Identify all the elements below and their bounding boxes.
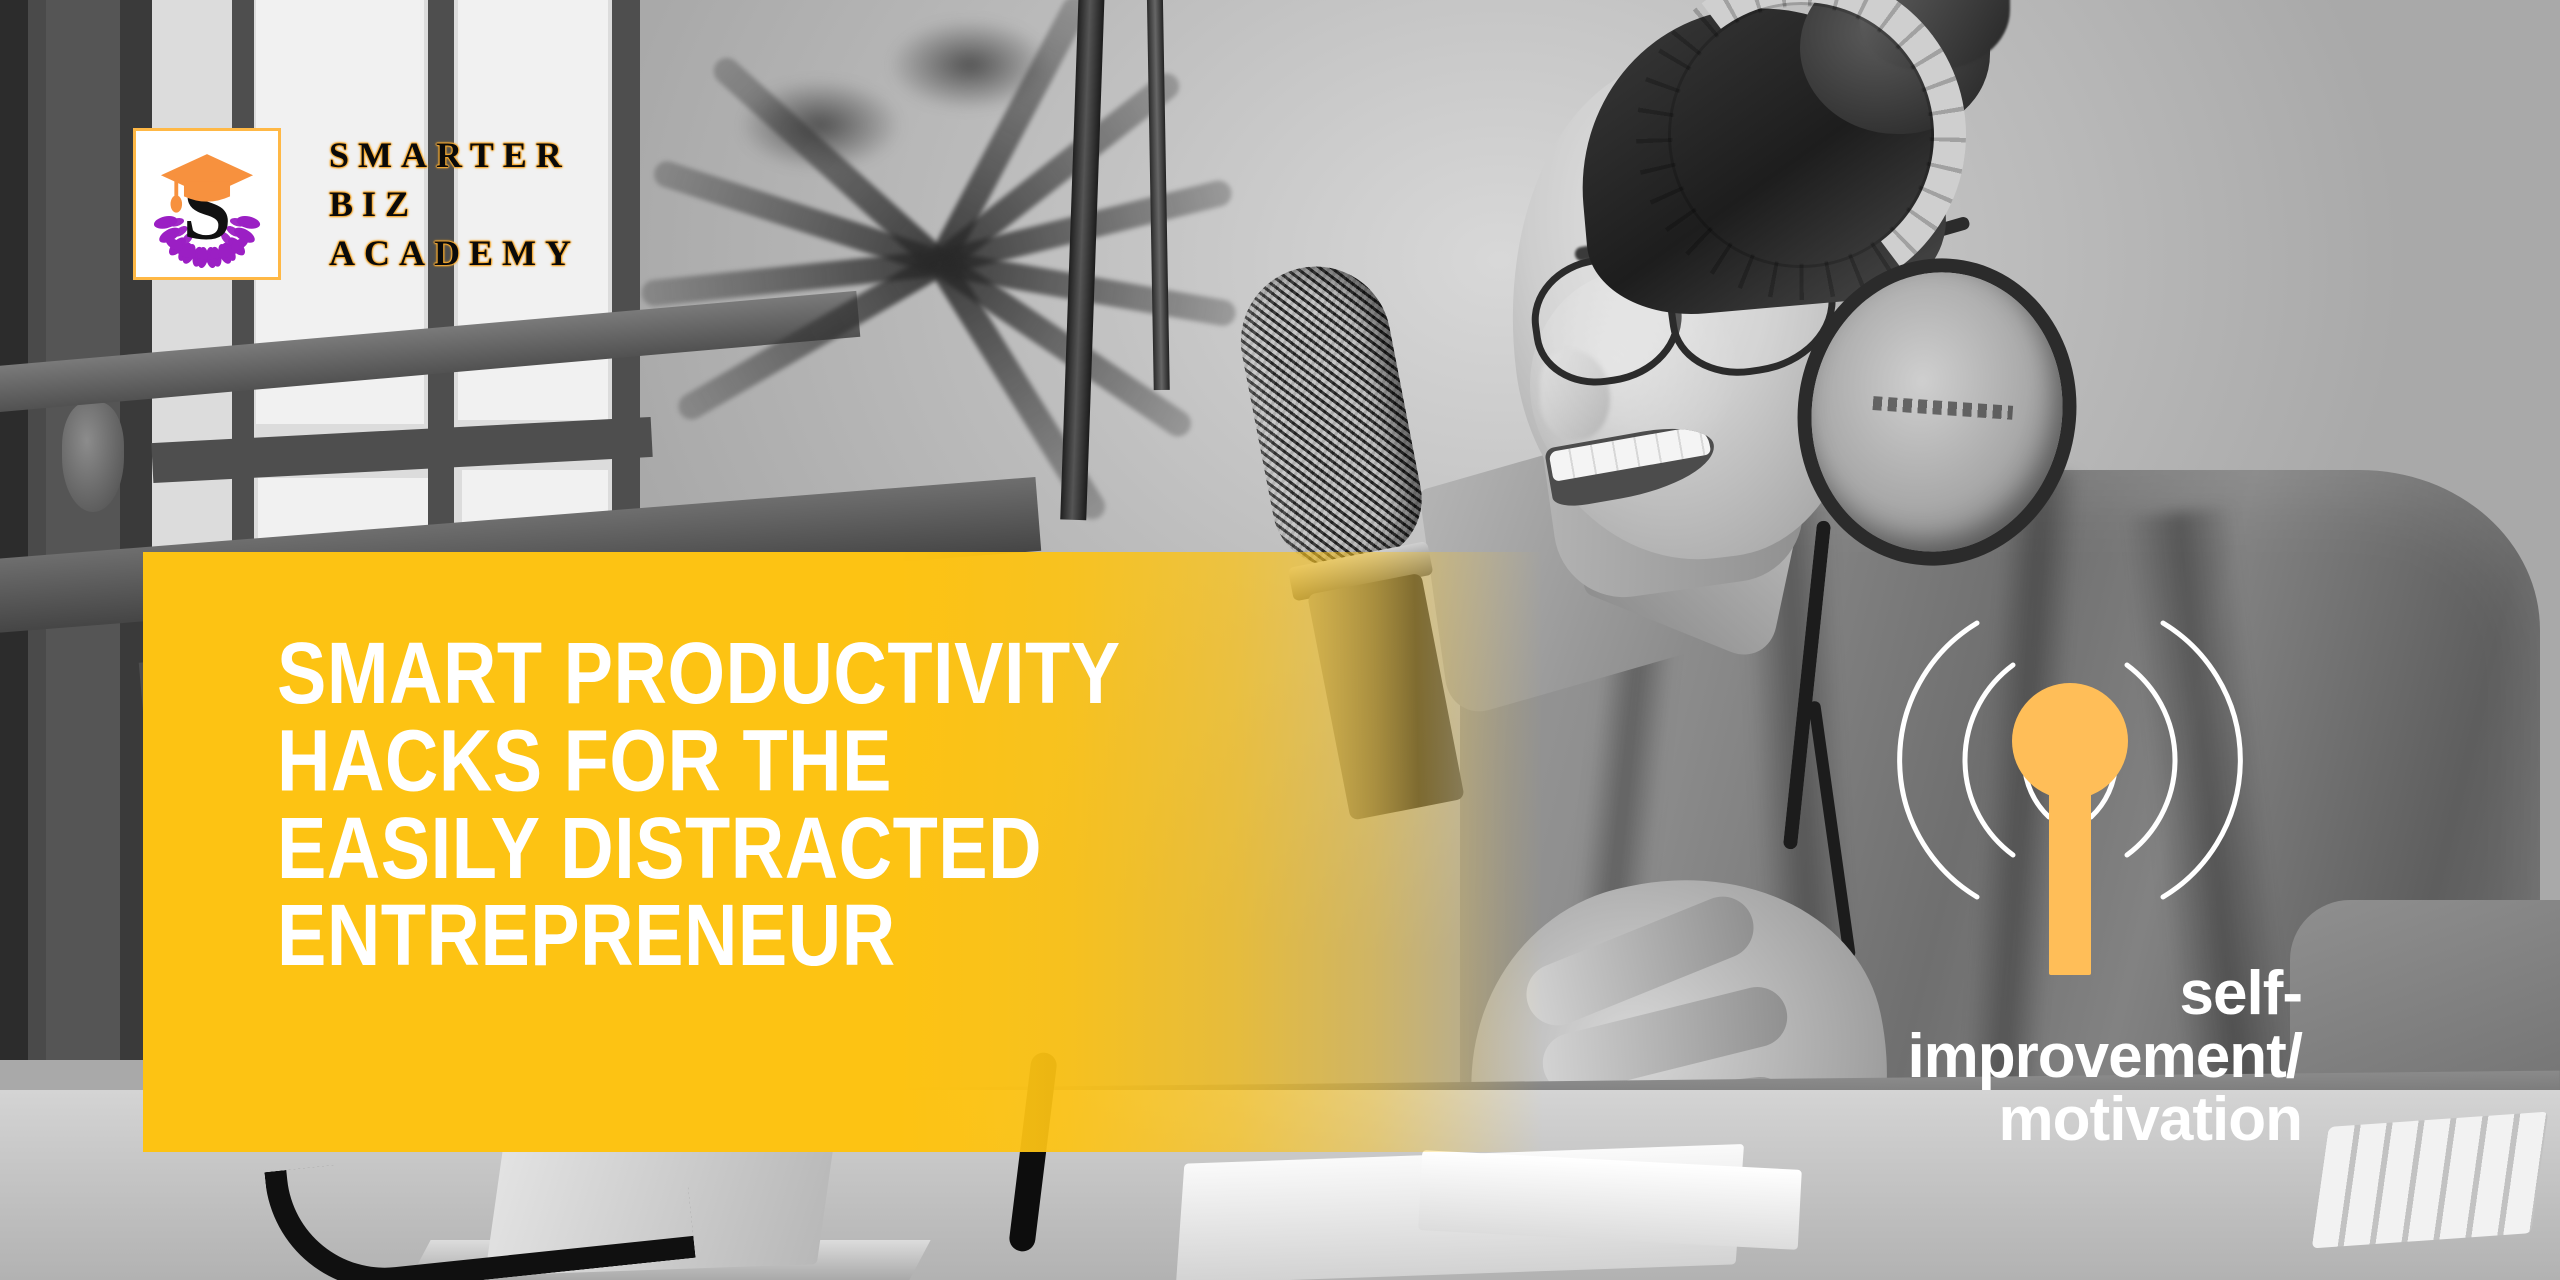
brand-wordmark: SMARTER BIZ ACADEMY — [329, 137, 580, 271]
category-line-2: improvement/ — [1442, 1025, 2302, 1088]
brand-lockup[interactable]: S SMARTER BIZ ACADEMY — [133, 128, 580, 280]
keyboard — [2312, 1112, 2549, 1249]
palm-plant — [560, 0, 1320, 570]
title-line-1: SMART PRODUCTIVITY — [277, 630, 1557, 717]
title-line-4: ENTREPRENEUR — [277, 892, 1557, 979]
category-line-1: self- — [1442, 962, 2302, 1025]
brand-line-2: BIZ — [329, 186, 580, 222]
academy-logo-icon: S — [133, 128, 281, 280]
brand-line-3: ACADEMY — [329, 235, 580, 271]
broadcast-waves-icon — [1805, 545, 2335, 975]
category-label: self- improvement/ motivation — [1442, 962, 2302, 1152]
podcast-episode-banner: S SMARTER BIZ ACADEMY SMART PRODUCTIVITY… — [0, 0, 2560, 1280]
episode-title: SMART PRODUCTIVITY HACKS FOR THE EASILY … — [277, 630, 1557, 979]
category-line-3: motivation — [1442, 1088, 2302, 1151]
brand-line-1: SMARTER — [329, 137, 580, 173]
title-line-2: HACKS FOR THE — [277, 717, 1557, 804]
title-line-3: EASILY DISTRACTED — [277, 805, 1557, 892]
window-handle — [62, 402, 124, 512]
